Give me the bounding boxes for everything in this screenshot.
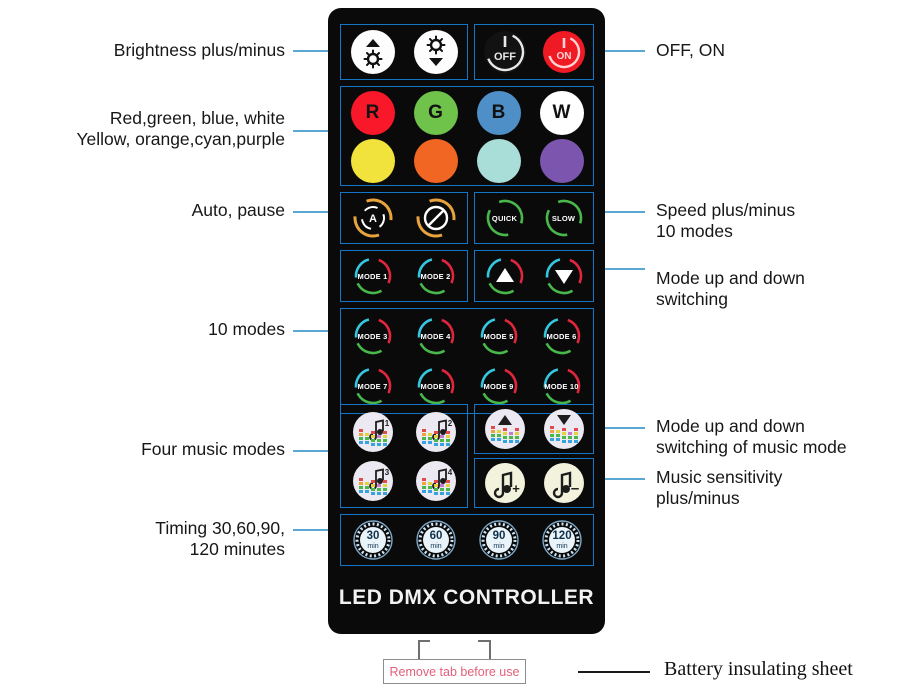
callout-speed: Speed plus/minus 10 modes — [656, 200, 906, 242]
music-mode-down-button[interactable] — [544, 409, 584, 449]
svg-text:–: – — [570, 480, 578, 497]
music-row-b: 3 4 — [341, 456, 467, 505]
mode-4-button[interactable]: MODE 4 — [415, 315, 457, 357]
mode-label: MODE 9 — [484, 382, 514, 391]
color-label: W — [553, 102, 571, 124]
group-speed: QUICK SLOW — [474, 192, 594, 244]
music-eq-icon: 4 — [416, 461, 456, 501]
auto-button[interactable]: A — [352, 197, 394, 239]
svg-text:ON: ON — [556, 51, 571, 62]
battery-tab[interactable]: Remove tab before use — [383, 659, 526, 684]
music-mode-4-button[interactable]: 4 — [416, 461, 456, 501]
leader-speed — [600, 211, 645, 213]
group-power: OFF ON — [474, 24, 594, 80]
mode-row-a: MODE 3 MODE 4 MODE 5 MODE 6 — [341, 311, 593, 361]
mode-9-button[interactable]: MODE 9 — [478, 365, 520, 407]
mode-6-button[interactable]: MODE 6 — [541, 315, 583, 357]
mode-label: MODE 10 — [544, 382, 578, 391]
mode-label: MODE 7 — [358, 382, 388, 391]
mode-label: MODE 4 — [421, 332, 451, 341]
color-button-orange[interactable] — [414, 139, 458, 183]
battery-tab-text: Remove tab before use — [390, 665, 520, 679]
svg-text:min: min — [493, 543, 504, 550]
pause-button[interactable] — [415, 197, 457, 239]
battery-label: Battery insulating sheet — [664, 658, 853, 681]
battery-leader — [578, 671, 650, 673]
timer-row: 30 min 60 min 90 min 120 min — [341, 515, 593, 565]
color-label: G — [428, 102, 443, 124]
leader-sensitivity — [600, 478, 645, 480]
timer-ring-icon: 90 min — [478, 519, 520, 561]
tab-arm-right-h — [478, 640, 490, 642]
mode-2-label: MODE 2 — [421, 272, 451, 281]
timer-120-button[interactable]: 120 min — [541, 519, 583, 561]
music-mode-up-button[interactable] — [485, 409, 525, 449]
mode-label: MODE 3 — [358, 332, 388, 341]
note-plus-icon: + — [485, 463, 525, 503]
svg-text:A: A — [369, 213, 377, 225]
mode-down-button[interactable] — [543, 255, 585, 297]
color-button-white[interactable]: W — [540, 91, 584, 135]
music-eq-icon: 3 — [353, 461, 393, 501]
triangle-down-icon — [543, 255, 585, 297]
speed-slow-button[interactable]: SLOW — [543, 197, 585, 239]
timer-30-button[interactable]: 30 min — [352, 519, 394, 561]
music-eq-icon: 1 — [353, 412, 393, 452]
svg-text:+: + — [512, 481, 520, 496]
mode-label: MODE 6 — [547, 332, 577, 341]
group-auto-pause: A — [340, 192, 468, 244]
group-modes-top: MODE 1 MODE 2 — [340, 250, 468, 302]
power-on-button[interactable]: ON — [543, 31, 585, 73]
callout-timing: Timing 30,60,90, 120 minutes — [20, 518, 285, 560]
mode-3-button[interactable]: MODE 3 — [352, 315, 394, 357]
sun-up-icon — [351, 30, 395, 74]
mode-label: MODE 5 — [484, 332, 514, 341]
svg-text:4: 4 — [447, 468, 452, 477]
music-mode-3-button[interactable]: 3 — [353, 461, 393, 501]
group-colors: R G B W — [340, 86, 594, 186]
mode-7-button[interactable]: MODE 7 — [352, 365, 394, 407]
group-brightness — [340, 24, 468, 80]
color-label: R — [366, 102, 380, 124]
music-sensitivity-down-button[interactable]: – — [544, 463, 584, 503]
power-off-button[interactable]: OFF — [484, 31, 526, 73]
brightness-up-button[interactable] — [351, 30, 395, 74]
music-row-a: 1 2 — [341, 407, 467, 456]
music-sensitivity-up-button[interactable]: + — [485, 463, 525, 503]
timer-ring-icon: 30 min — [352, 519, 394, 561]
mode-8-button[interactable]: MODE 8 — [415, 365, 457, 407]
mode-5-button[interactable]: MODE 5 — [478, 315, 520, 357]
color-row-2 — [341, 137, 593, 185]
callout-brightness: Brightness plus/minus — [20, 40, 285, 61]
timer-ring-icon: 120 min — [541, 519, 583, 561]
speed-slow-label: SLOW — [552, 214, 575, 223]
color-button-green[interactable]: G — [414, 91, 458, 135]
svg-text:OFF: OFF — [494, 51, 516, 63]
music-mode-2-button[interactable]: 2 — [416, 412, 456, 452]
svg-text:min: min — [430, 543, 441, 550]
mode-2-button[interactable]: MODE 2 — [415, 255, 457, 297]
mode-1-label: MODE 1 — [358, 272, 388, 281]
color-button-cyan[interactable] — [477, 139, 521, 183]
svg-text:2: 2 — [447, 419, 452, 428]
svg-text:min: min — [556, 543, 567, 550]
brand-label: LED DMX CONTROLLER — [328, 586, 605, 610]
callout-music-modes: Four music modes — [20, 439, 285, 460]
remote-body: OFF ON R G B W — [328, 8, 605, 634]
power-on-icon: ON — [543, 31, 585, 73]
pause-slash-icon — [415, 197, 457, 239]
mode-10-button[interactable]: MODE 10 — [541, 365, 583, 407]
group-timers: 30 min 60 min 90 min 120 min — [340, 514, 594, 566]
group-modes-grid: MODE 3 MODE 4 MODE 5 MODE 6 MODE 7 MODE … — [340, 308, 594, 414]
callout-mode-switch: Mode up and down switching — [656, 268, 911, 310]
music-eq-icon: 2 — [416, 412, 456, 452]
svg-text:3: 3 — [384, 468, 389, 477]
speed-quick-button[interactable]: QUICK — [484, 197, 526, 239]
sun-down-icon — [414, 30, 458, 74]
note-minus-icon: – — [544, 463, 584, 503]
auto-ring: A — [352, 197, 394, 239]
mode-up-button[interactable] — [484, 255, 526, 297]
svg-text:min: min — [367, 543, 378, 550]
callout-music-switch: Mode up and down switching of music mode — [656, 416, 918, 458]
timer-ring-icon: 60 min — [415, 519, 457, 561]
group-music-sensitivity: + – — [474, 458, 594, 508]
callout-sensitivity: Music sensitivity plus/minus — [656, 467, 906, 509]
svg-text:1: 1 — [384, 419, 389, 428]
svg-text:120: 120 — [552, 530, 571, 542]
callout-colors: Red,green, blue, white Yellow, orange,cy… — [0, 108, 285, 150]
music-eq-down-icon — [544, 409, 584, 449]
svg-text:60: 60 — [429, 530, 442, 542]
leader-power — [600, 50, 645, 52]
group-mode-switch — [474, 250, 594, 302]
color-button-purple[interactable] — [540, 139, 584, 183]
color-label: B — [492, 102, 506, 124]
leader-music-switch — [600, 427, 645, 429]
timer-60-button[interactable]: 60 min — [415, 519, 457, 561]
svg-text:90: 90 — [492, 530, 505, 542]
group-music-switch — [474, 404, 594, 454]
brightness-down-button[interactable] — [414, 30, 458, 74]
callout-auto-pause: Auto, pause — [20, 200, 285, 221]
callout-10-modes: 10 modes — [20, 319, 285, 340]
tab-arm-right — [489, 640, 491, 660]
callout-power: OFF, ON — [656, 40, 906, 61]
tab-arm-left — [418, 640, 420, 660]
timer-90-button[interactable]: 90 min — [478, 519, 520, 561]
color-button-yellow[interactable] — [351, 139, 395, 183]
color-button-blue[interactable]: B — [477, 91, 521, 135]
color-row-1: R G B W — [341, 89, 593, 137]
tab-arm-left-h — [418, 640, 430, 642]
triangle-up-icon — [484, 255, 526, 297]
mode-1-button[interactable]: MODE 1 — [352, 255, 394, 297]
music-mode-1-button[interactable]: 1 — [353, 412, 393, 452]
speed-quick-label: QUICK — [492, 214, 517, 223]
mode-label: MODE 8 — [421, 382, 451, 391]
group-music-modes: 1 2 3 4 — [340, 404, 468, 508]
color-button-red[interactable]: R — [351, 91, 395, 135]
power-off-icon: OFF — [484, 31, 526, 73]
svg-text:30: 30 — [366, 530, 379, 542]
music-eq-up-icon — [485, 409, 525, 449]
